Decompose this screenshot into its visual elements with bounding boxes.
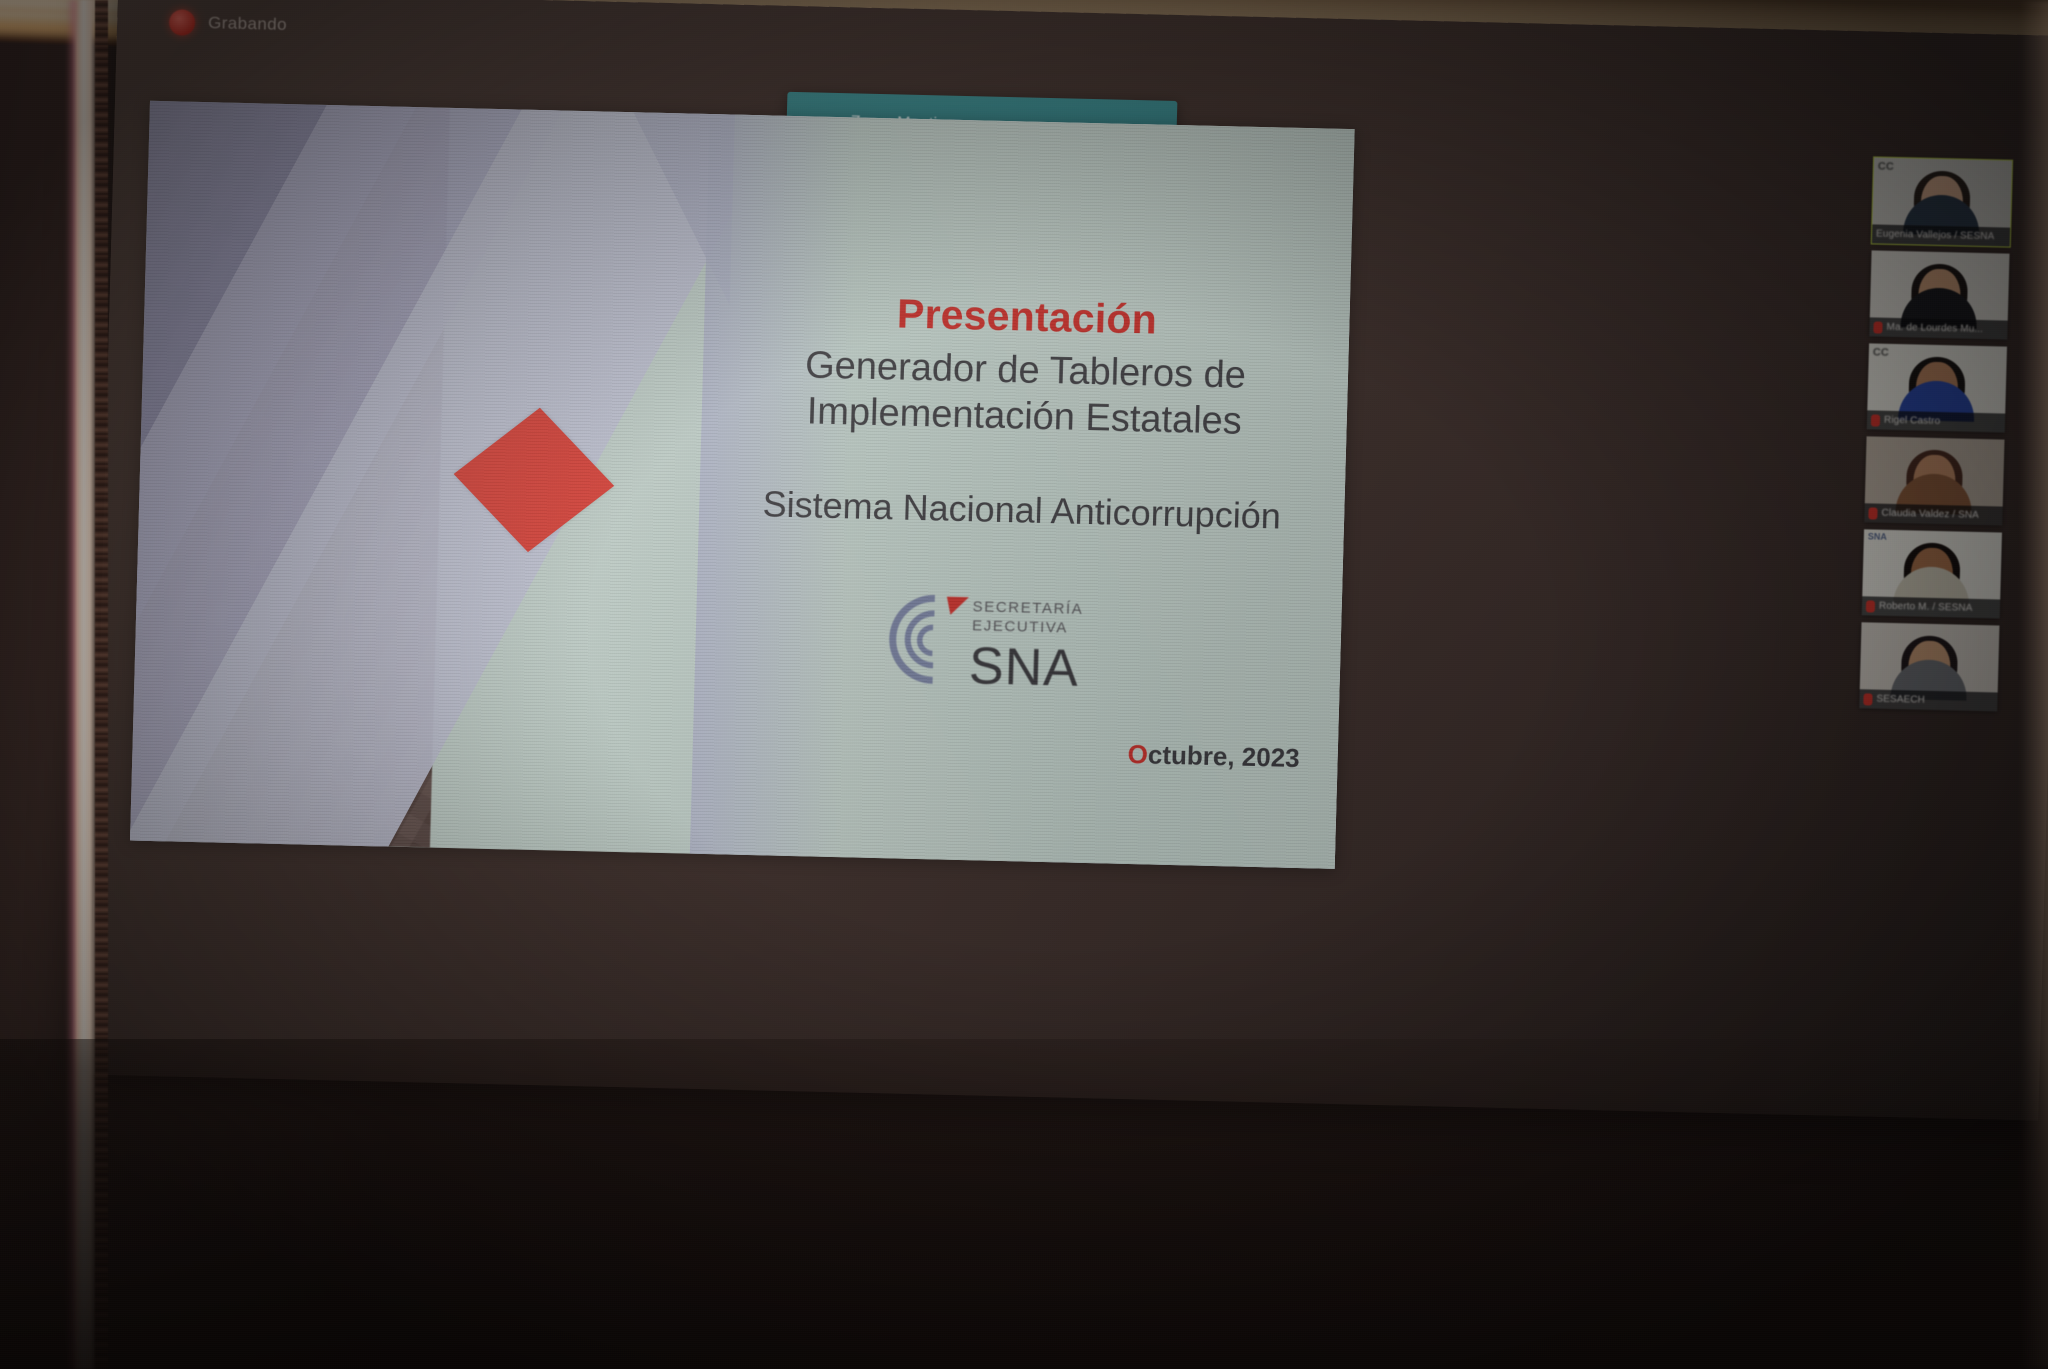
projection-screen: Grabando Iniciar sesión Zoom Meetings es…: [89, 0, 2048, 1121]
participant-name-bar: Claudia Valdez / SNA: [1864, 503, 2004, 525]
slide-text-block: Presentación Generador de Tableros de Im…: [690, 114, 1355, 869]
foreground-shadow: [0, 1039, 2048, 1369]
microphone-muted-icon: [1863, 693, 1872, 705]
slide-date-initial: O: [1127, 739, 1148, 769]
participant-name: Eugenia Vallejos / SESNA: [1876, 228, 1995, 242]
slide-subtitle: Sistema Nacional Anticorrupción: [699, 482, 1345, 539]
participant-strip: CCEugenia Vallejos / SESNAMa. de Lourdes…: [1859, 157, 2012, 711]
slide-date-rest: ctubre, 2023: [1148, 739, 1301, 773]
logo-line2-text: EJECUTIVA: [972, 617, 1068, 636]
recording-label: Grabando: [208, 13, 287, 35]
microphone-muted-icon: [1871, 414, 1880, 426]
room-photo-scene: Grabando Iniciar sesión Zoom Meetings es…: [0, 0, 2048, 1369]
slide-date: Octubre, 2023: [692, 729, 1338, 775]
participant-tile[interactable]: CCRigel Castro: [1867, 343, 2007, 432]
participant-tile[interactable]: Ma. de Lourdes Mu...: [1869, 250, 2009, 339]
participant-name: Roberto M. / SESNA: [1879, 601, 1973, 614]
microphone-muted-icon: [1873, 321, 1882, 333]
closed-caption-icon: CC: [1878, 161, 1894, 173]
sna-watermark-icon: SNA: [1868, 531, 1887, 541]
participant-name: Rigel Castro: [1884, 415, 1941, 427]
shared-slide: Presentación Generador de Tableros de Im…: [130, 101, 1355, 869]
participant-name-bar: Rigel Castro: [1867, 410, 2007, 432]
microphone-muted-icon: [1866, 600, 1875, 612]
record-dot-icon: [169, 9, 196, 36]
participant-name: SESAECH: [1876, 694, 1925, 706]
participant-tile[interactable]: CCEugenia Vallejos / SESNA: [1872, 157, 2012, 246]
participant-tile[interactable]: SESAECH: [1859, 622, 1999, 711]
participant-name-bar: Eugenia Vallejos / SESNA: [1872, 224, 2012, 246]
closed-caption-icon: CC: [1873, 346, 1889, 358]
logo-wordmark-text: SNA: [968, 637, 1079, 698]
participant-name-bar: Roberto M. / SESNA: [1862, 596, 2002, 618]
sna-logo: SECRETARÍA EJECUTIVA SNA: [874, 583, 1137, 699]
microphone-muted-icon: [1868, 507, 1877, 519]
participant-name-bar: Ma. de Lourdes Mu...: [1869, 317, 2009, 339]
slide-eyebrow: Presentación: [704, 286, 1350, 348]
participant-tile[interactable]: Claudia Valdez / SNA: [1864, 436, 2004, 525]
participant-name: Claudia Valdez / SNA: [1881, 508, 1979, 521]
logo-line1-text: SECRETARÍA: [972, 598, 1083, 618]
participant-name-bar: SESAECH: [1859, 689, 1999, 711]
recording-indicator: Grabando: [169, 9, 287, 38]
participant-tile[interactable]: SNARoberto M. / SESNA: [1862, 529, 2002, 618]
participant-name: Ma. de Lourdes Mu...: [1886, 322, 1983, 335]
